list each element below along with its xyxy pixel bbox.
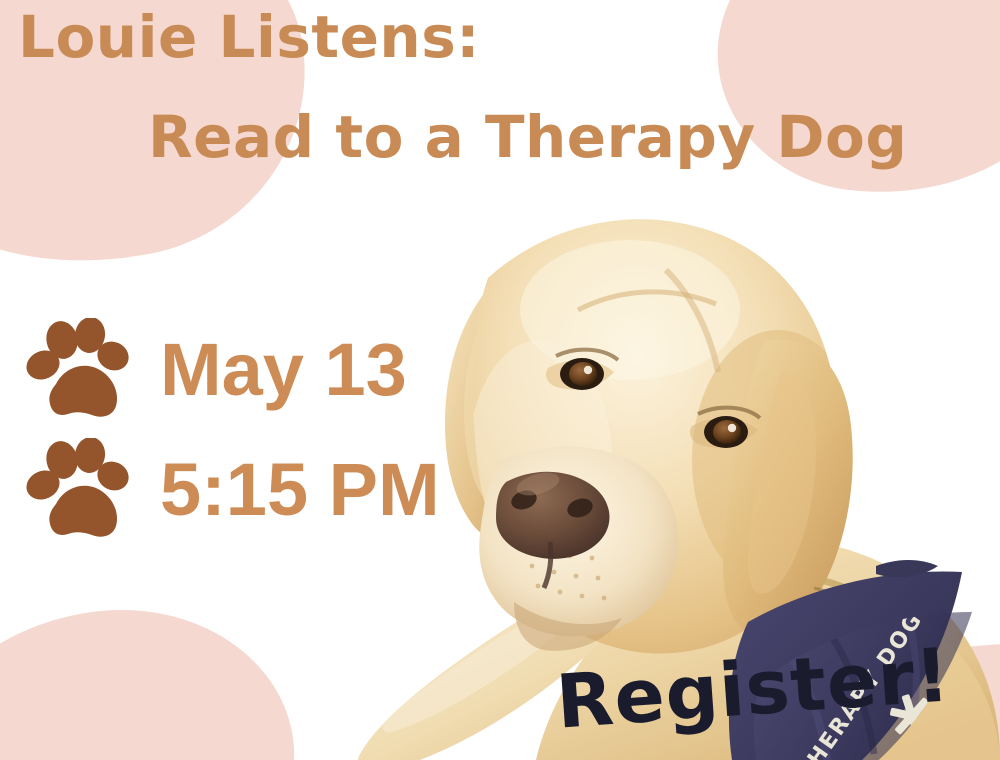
- event-time-label: 5:15 PM: [160, 453, 440, 527]
- event-date-row: May 13: [16, 310, 440, 430]
- flyer-canvas: THERAPY DOG Louie Listens: Read to a The…: [0, 0, 1000, 760]
- event-details: May 13 5:15 PM: [16, 310, 440, 550]
- paw-print-icon: [16, 318, 136, 422]
- decorative-blob-top-left: [0, 0, 331, 291]
- event-date-label: May 13: [160, 333, 407, 407]
- decorative-blob-bottom-left: [0, 592, 308, 760]
- paw-print-icon: [16, 438, 136, 542]
- event-time-row: 5:15 PM: [16, 430, 440, 550]
